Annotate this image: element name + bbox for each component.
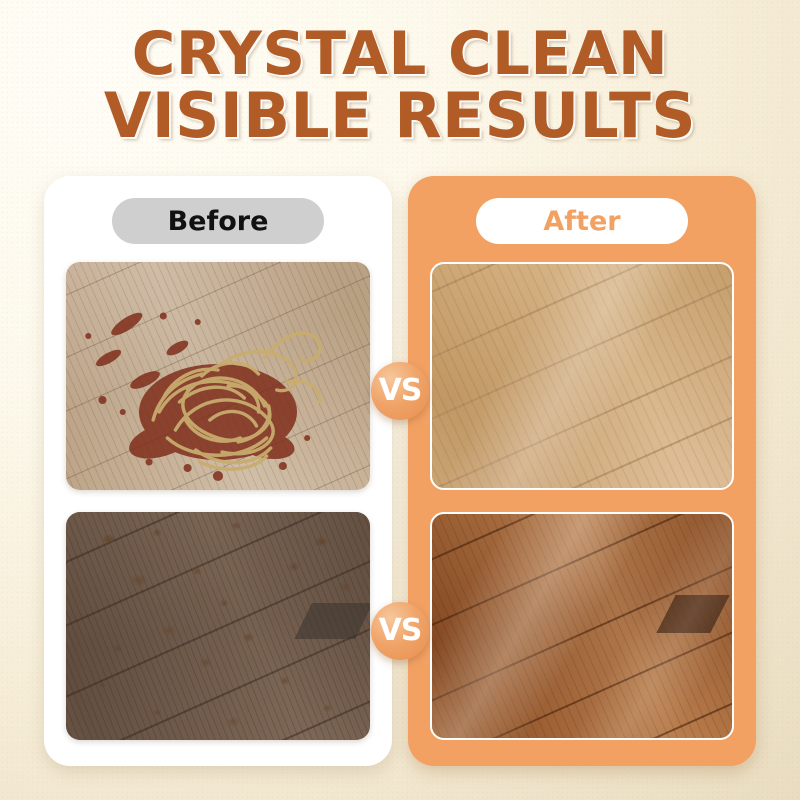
after-photo-polished-floor <box>430 512 734 740</box>
before-photo-stained-floor <box>66 512 370 740</box>
after-photo-clean-floor <box>430 262 734 490</box>
headline-block: CRYSTAL CLEAN VISIBLE RESULTS <box>0 26 800 145</box>
vs-badge-bottom: VS <box>371 602 429 660</box>
clean-sheen-overlay <box>432 264 732 488</box>
vs-badge-top: VS <box>371 362 429 420</box>
vs-label: VS <box>379 616 422 646</box>
after-panel: After <box>408 176 756 766</box>
before-panel: Before <box>44 176 392 766</box>
headline-line-1: CRYSTAL CLEAN <box>4 26 796 84</box>
vs-label: VS <box>379 376 422 406</box>
poster-root: CRYSTAL CLEAN VISIBLE RESULTS Before <box>0 0 800 800</box>
before-badge: Before <box>112 198 324 244</box>
before-photo-spaghetti <box>66 262 370 490</box>
comparison-panels: Before <box>44 176 756 766</box>
dull-haze-overlay <box>66 512 370 740</box>
after-badge: After <box>476 198 688 244</box>
spaghetti-spill-graphic <box>66 262 370 490</box>
headline-line-2: VISIBLE RESULTS <box>4 86 796 146</box>
polish-sheen-overlay <box>432 514 732 738</box>
